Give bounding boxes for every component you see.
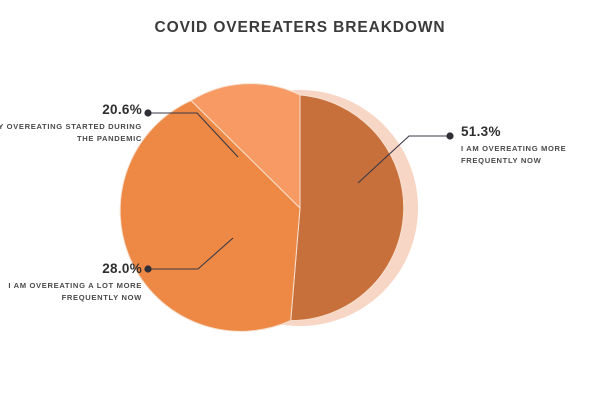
pie-chart-graphic [0,0,600,400]
leader-dot-20-6 [144,109,151,116]
callout-description-28-0-line1: I AM OVEREATING A LOT MORE [8,280,142,292]
callout-percent-51-3: 51.3% [461,124,566,139]
callout-51-3: 51.3% I AM OVEREATING MORE FREQUENTLY NO… [461,124,566,166]
callout-28-0: 28.0% I AM OVEREATING A LOT MORE FREQUEN… [8,261,142,303]
callout-description-51-3-line2: FREQUENTLY NOW [461,155,566,167]
pie-chart-figure: COVID OVEREATERS BREAKDOWN 51.3% I AM OV… [0,0,600,400]
callout-description-20-6-line2: THE PANDEMIC [0,133,142,145]
callout-description-28-0-line2: FREQUENTLY NOW [8,292,142,304]
callout-20-6: 20.6% MY OVEREATING STARTED DURING THE P… [0,102,142,144]
callout-percent-28-0: 28.0% [8,261,142,276]
leader-dot-28-0 [144,265,151,272]
callout-description-51-3-line1: I AM OVEREATING MORE [461,143,566,155]
leader-dot-51-3 [446,132,453,139]
callout-description-20-6-line1: MY OVEREATING STARTED DURING [0,121,142,133]
callout-percent-20-6: 20.6% [0,102,142,117]
